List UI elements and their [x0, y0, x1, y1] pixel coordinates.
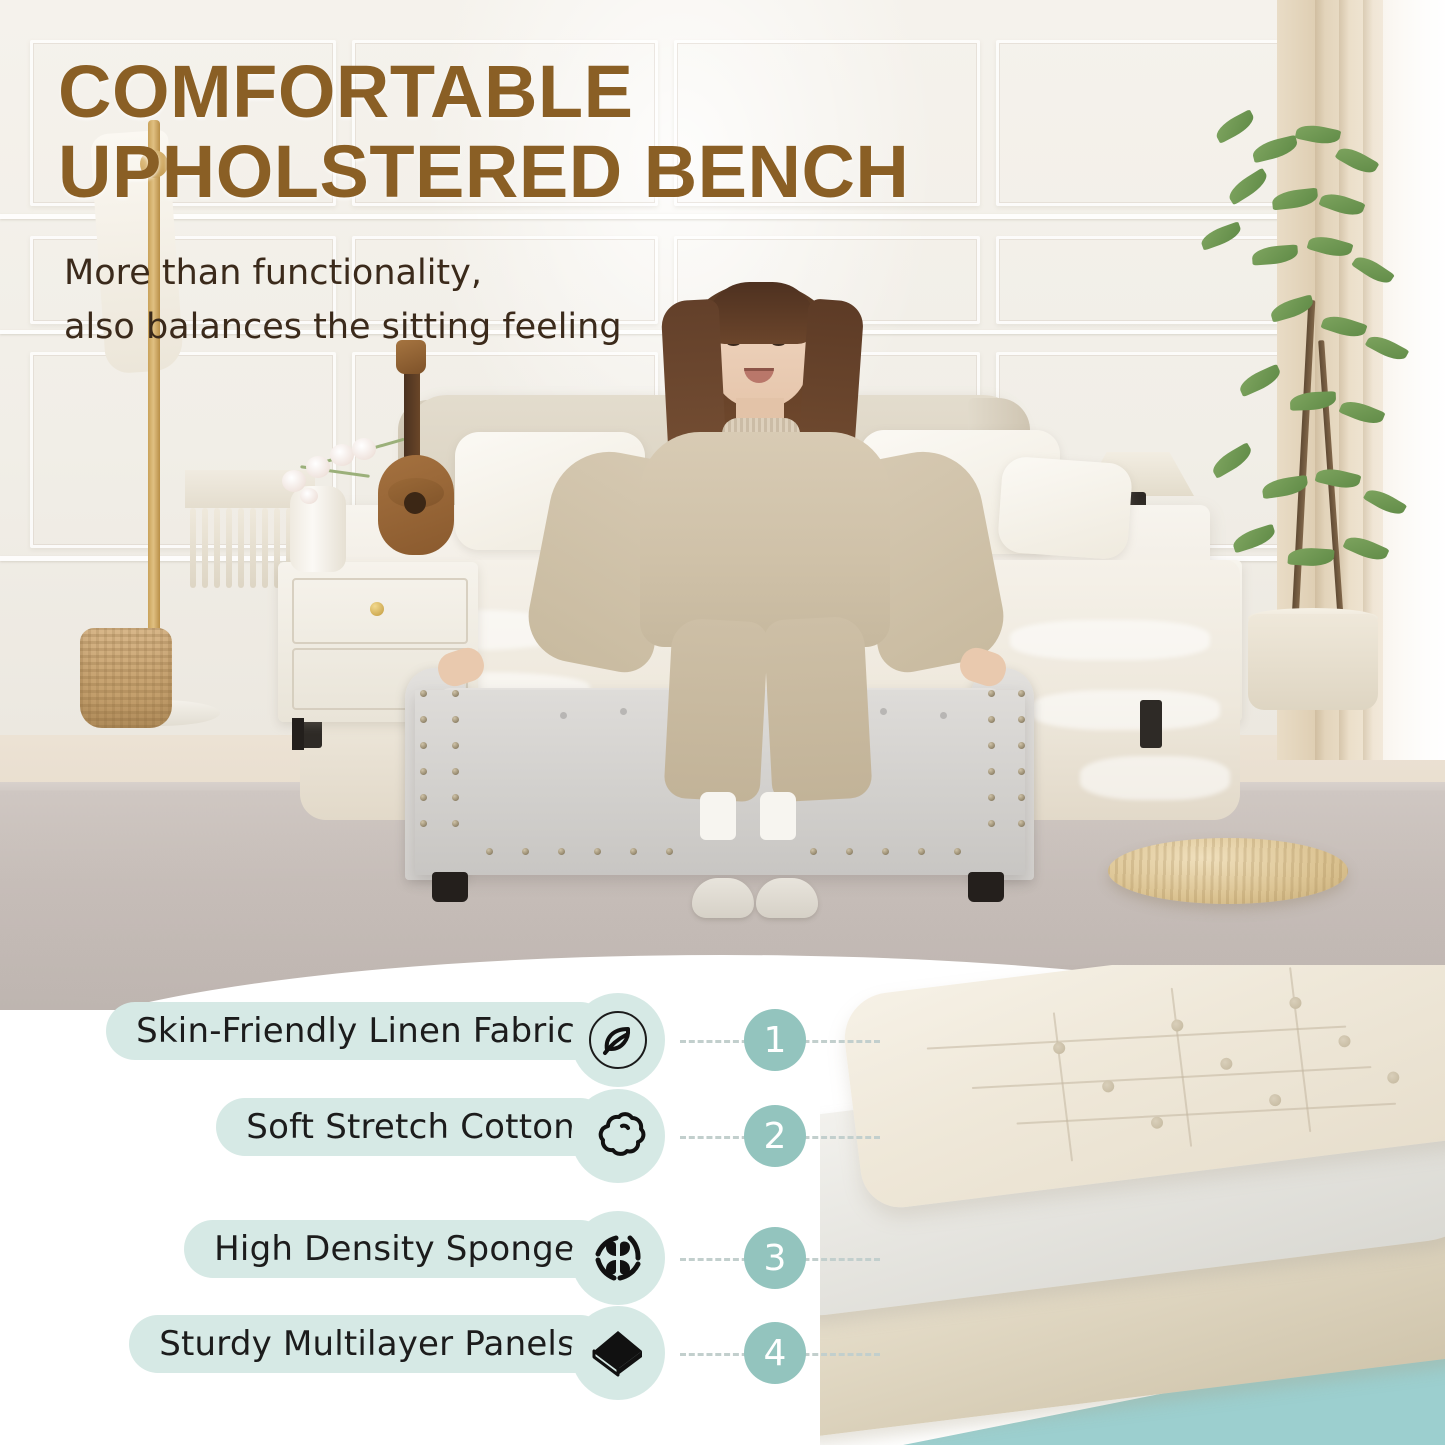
product-infographic: COMFORTABLE UPHOLSTERED BENCH More than … [0, 0, 1445, 1445]
basket-weave-texture [80, 628, 172, 728]
feature-pill-3[interactable]: High Density Sponge [184, 1220, 609, 1278]
feature-row-1[interactable]: Skin-Friendly Linen Fabric [95, 1002, 665, 1078]
sponge-icon [571, 1211, 665, 1305]
feature-row-3[interactable]: High Density Sponge [165, 1220, 665, 1296]
sock-left [700, 792, 736, 840]
feature-label-2: Soft Stretch Cotton [246, 1107, 575, 1147]
headline-line-1: COMFORTABLE [58, 52, 909, 132]
person-leg-right [763, 616, 872, 803]
feature-number-4: 4 [744, 1322, 806, 1384]
feature-row-4[interactable]: Sturdy Multilayer Panels [118, 1315, 665, 1391]
person-torso [640, 432, 890, 647]
feature-label-4: Sturdy Multilayer Panels [159, 1324, 575, 1364]
headline-line-2: UPHOLSTERED BENCH [58, 132, 909, 212]
slipper-left [692, 878, 754, 918]
layer-stack-illustration [820, 965, 1445, 1445]
person-leg-left [663, 618, 768, 803]
feature-pill-1[interactable]: Skin-Friendly Linen Fabric [106, 1002, 609, 1060]
feature-number-3-text: 3 [764, 1238, 787, 1279]
feature-label-3: High Density Sponge [214, 1229, 575, 1269]
orchid-bloom [330, 444, 354, 466]
feature-pill-4[interactable]: Sturdy Multilayer Panels [129, 1315, 609, 1373]
sock-right [760, 792, 796, 840]
feature-number-3: 3 [744, 1227, 806, 1289]
feature-number-2: 2 [744, 1105, 806, 1167]
subtitle: More than functionality, also balances t… [64, 246, 622, 354]
feature-label-1: Skin-Friendly Linen Fabric [136, 1011, 575, 1051]
subtitle-line-1: More than functionality, [64, 246, 622, 300]
pouf-weave-texture [1108, 838, 1348, 904]
ukulele-soundhole [404, 492, 426, 514]
planter [1248, 614, 1378, 710]
subtitle-line-2: also balances the sitting feeling [64, 300, 622, 354]
feature-number-1: 1 [744, 1009, 806, 1071]
orchid-bloom [306, 456, 330, 478]
orchid-bud [300, 488, 318, 504]
person-hair-front [706, 282, 816, 344]
cotton-cloud-icon [571, 1089, 665, 1183]
slipper-right [756, 878, 818, 918]
orchid-bloom [352, 438, 376, 460]
panel-block-icon [571, 1306, 665, 1400]
vase [290, 486, 346, 572]
sheer-curtain [1383, 0, 1445, 760]
leaf-icon [571, 993, 665, 1087]
feature-number-4-text: 4 [764, 1333, 787, 1374]
page-title: COMFORTABLE UPHOLSTERED BENCH [58, 52, 909, 212]
feature-row-2[interactable]: Soft Stretch Cotton [200, 1098, 665, 1174]
orchid-bloom [282, 470, 306, 492]
feature-pill-2[interactable]: Soft Stretch Cotton [216, 1098, 609, 1156]
feature-number-1-text: 1 [764, 1020, 787, 1061]
pillow-far-right [997, 456, 1133, 561]
feature-number-2-text: 2 [764, 1116, 787, 1157]
